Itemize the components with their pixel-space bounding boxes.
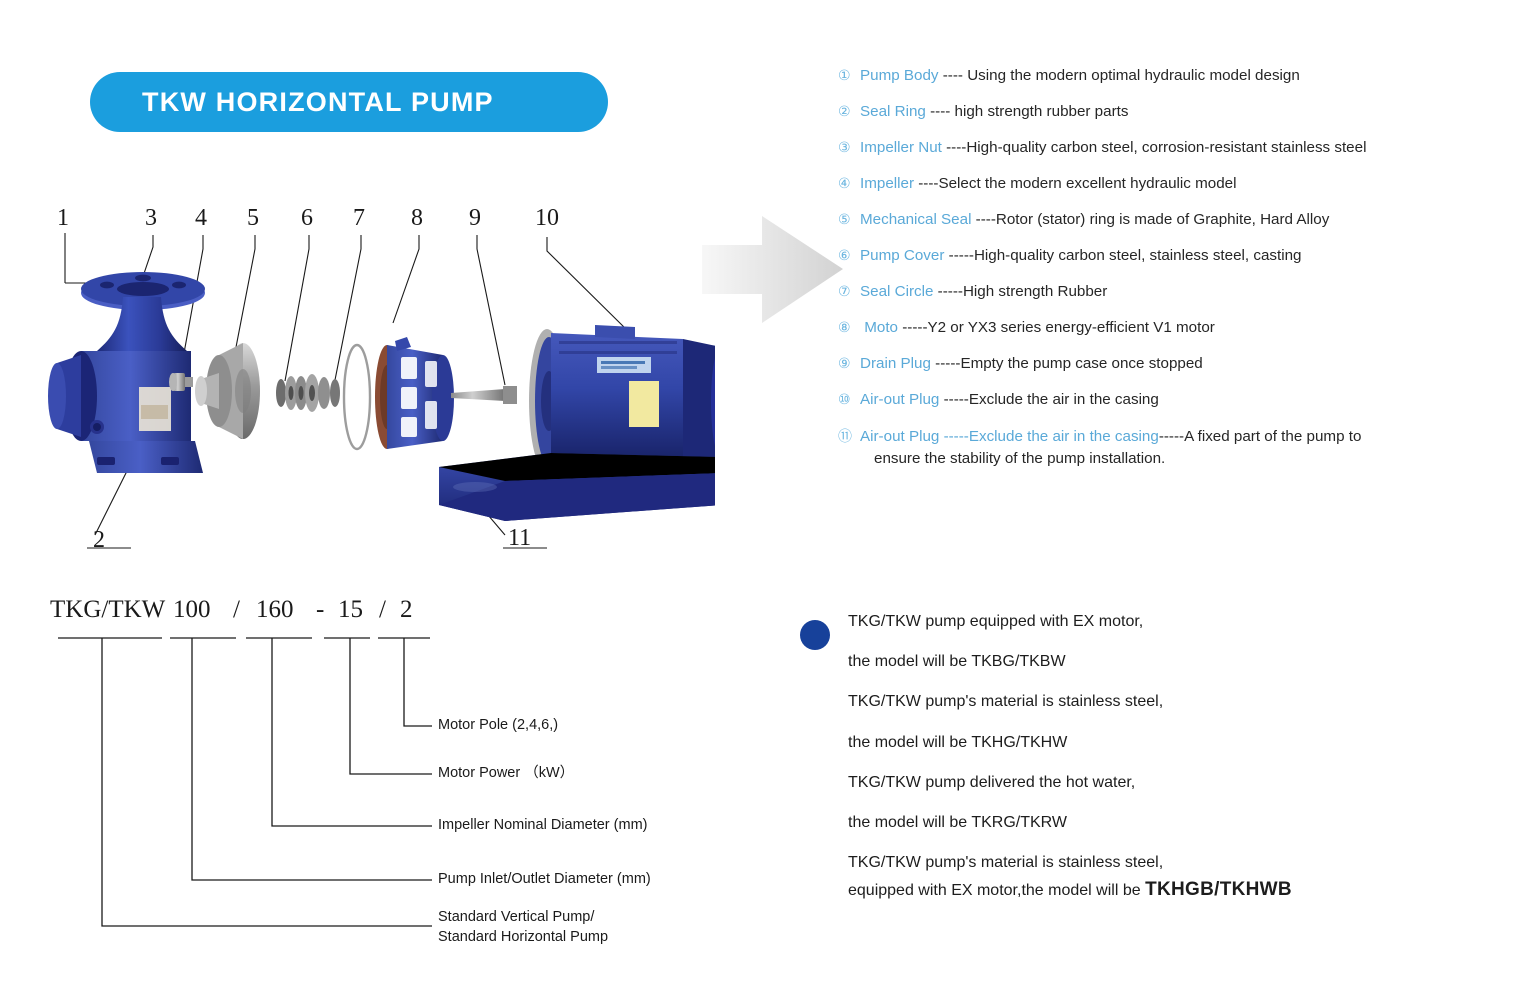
legend-desc: Empty the pump case once stopped [960, 355, 1202, 372]
legend-item-7: ⑦ Seal Circle -----High strength Rubber [838, 282, 1503, 302]
legend-number-icon: ② [838, 104, 860, 122]
legend-part-highlight: Air-out Plug -----Exclude the air in the… [860, 428, 1159, 445]
legend-separator: ----- [933, 283, 963, 300]
legend-item-3: ③ Impeller Nut ----High-quality carbon s… [838, 138, 1503, 158]
legend-part-name: Pump Body [860, 67, 939, 84]
legend-number-icon: ⑤ [838, 212, 860, 230]
label-inlet-diam: Pump Inlet/Outlet Diameter (mm) [438, 870, 651, 890]
product-spec-sheet: TKW HORIZONTAL PUMP [0, 0, 1513, 1000]
legend-separator: ----- [939, 391, 969, 408]
legend-desc: Rotor (stator) ring is made of Graphite,… [996, 211, 1329, 228]
legend-part-name: Impeller Nut [860, 139, 942, 156]
note-final-model: TKHGB/TKHWB [1145, 879, 1292, 900]
legend-desc: High-quality carbon steel, stainless ste… [974, 247, 1302, 264]
callout-3: 3 [145, 205, 157, 232]
seal-circle-part [344, 345, 370, 449]
note-line: the model will be TKBG/TKBW [848, 652, 1460, 671]
legend-desc: High-quality carbon steel, corrosion-res… [966, 139, 1366, 156]
legend-part-name: Air-out Plug [860, 391, 939, 408]
legend-part-name: Mechanical Seal [860, 211, 971, 228]
legend-separator: ---- [971, 211, 995, 228]
pump-body-part [48, 272, 205, 473]
legend-separator: ----- [931, 355, 961, 372]
legend-part-name: Impeller [860, 175, 914, 192]
legend-separator: ---- [914, 175, 938, 192]
legend-separator: ----- [898, 319, 928, 336]
callout-6: 6 [301, 205, 313, 232]
legend-item-2: ② Seal Ring ---- high strength rubber pa… [838, 102, 1503, 122]
legend-separator: ---- [939, 67, 968, 84]
legend-desc: Exclude the air in the casing [969, 391, 1159, 408]
callout-1: 1 [57, 205, 69, 232]
callout-7: 7 [353, 205, 365, 232]
flow-arrow-icon [700, 212, 845, 327]
legend-desc: Select the modern excellent hydraulic mo… [938, 175, 1236, 192]
note-line: TKG/TKW pump's material is stainless ste… [848, 853, 1460, 872]
base-plate-part [439, 453, 715, 521]
callout-11: 11 [508, 525, 531, 552]
note-line: TKG/TKW pump's material is stainless ste… [848, 692, 1460, 711]
legend-number-icon: ⑥ [838, 248, 860, 266]
legend-part-name: Pump Cover [860, 247, 944, 264]
model-designation-diagram: TKG/TKW 100 / 160 - 15 / 2 [40, 596, 740, 966]
legend-number-icon: ④ [838, 176, 860, 194]
legend-item-11: ⑪ Air-out Plug -----Exclude the air in t… [838, 426, 1503, 470]
legend-desc: Using the modern optimal hydraulic model… [967, 67, 1300, 84]
note-line: the model will be TKHG/TKHW [848, 733, 1460, 752]
legend-part-name: Seal Circle [860, 283, 933, 300]
label-motor-pole: Motor Pole (2,4,6,) [438, 716, 558, 736]
legend-separator: ----- [944, 247, 974, 264]
label-pump-type: Standard Vertical Pump/ Standard Horizon… [438, 908, 608, 947]
legend-item-5: ⑤ Mechanical Seal ----Rotor (stator) rin… [838, 210, 1503, 230]
model-leader-lines [40, 596, 740, 966]
legend-number-icon: ⑩ [838, 392, 860, 410]
legend-item-1: ① Pump Body ---- Using the modern optima… [838, 66, 1503, 86]
legend-item-10: ⑩ Air-out Plug -----Exclude the air in t… [838, 390, 1503, 410]
note-line-final: equipped with EX motor,the model will be… [848, 879, 1460, 902]
model-variant-notes: TKG/TKW pump equipped with EX motor, the… [800, 612, 1460, 923]
legend-separator: ---- [942, 139, 966, 156]
legend-number-icon: ⑦ [838, 284, 860, 302]
parts-legend: ① Pump Body ---- Using the modern optima… [838, 66, 1503, 487]
callout-10: 10 [535, 205, 559, 232]
page-title-banner: TKW HORIZONTAL PUMP [90, 72, 608, 132]
callout-9: 9 [469, 205, 481, 232]
legend-part-name: Moto [864, 319, 898, 336]
callout-5: 5 [247, 205, 259, 232]
note-line: the model will be TKRG/TKRW [848, 813, 1460, 832]
exploded-pump-diagram: 1 3 4 5 6 7 8 9 10 2 11 [35, 205, 715, 575]
legend-desc: High strength Rubber [963, 283, 1107, 300]
legend-number-icon: ⑨ [838, 356, 860, 374]
legend-desc: high strength rubber parts [955, 103, 1129, 120]
legend-number-icon: ① [838, 68, 860, 86]
legend-desc: -----A fixed part of the pump to [1159, 428, 1362, 445]
bullet-dot-icon [800, 620, 830, 650]
legend-item-6: ⑥ Pump Cover -----High-quality carbon st… [838, 246, 1503, 266]
note-final-prefix: equipped with EX motor,the model will be [848, 882, 1145, 899]
pump-assembly-illustration [35, 205, 715, 575]
legend-item-9: ⑨ Drain Plug -----Empty the pump case on… [838, 354, 1503, 374]
label-impeller-diam: Impeller Nominal Diameter (mm) [438, 816, 647, 836]
page-title: TKW HORIZONTAL PUMP [90, 87, 494, 118]
motor-part [451, 325, 715, 473]
legend-desc: Y2 or YX3 series energy-efficient V1 mot… [928, 319, 1215, 336]
legend-part-name: Drain Plug [860, 355, 931, 372]
legend-number-icon: ⑪ [838, 429, 860, 447]
legend-separator: ---- [926, 103, 955, 120]
legend-number-icon: ③ [838, 140, 860, 158]
legend-desc-line2: ensure the stability of the pump install… [860, 448, 1361, 470]
note-line: TKG/TKW pump delivered the hot water, [848, 773, 1460, 792]
callout-2: 2 [93, 527, 105, 554]
pump-cover-part [375, 337, 454, 449]
impeller-part [195, 343, 260, 439]
label-motor-power: Motor Power （kW） [438, 764, 574, 784]
legend-part-name: Seal Ring [860, 103, 926, 120]
legend-item-8: ⑧ Moto -----Y2 or YX3 series energy-effi… [838, 318, 1503, 338]
callout-8: 8 [411, 205, 423, 232]
note-line: TKG/TKW pump equipped with EX motor, [848, 612, 1460, 631]
legend-item-4: ④ Impeller ----Select the modern excelle… [838, 174, 1503, 194]
legend-number-icon: ⑧ [838, 320, 860, 338]
callout-4: 4 [195, 205, 207, 232]
